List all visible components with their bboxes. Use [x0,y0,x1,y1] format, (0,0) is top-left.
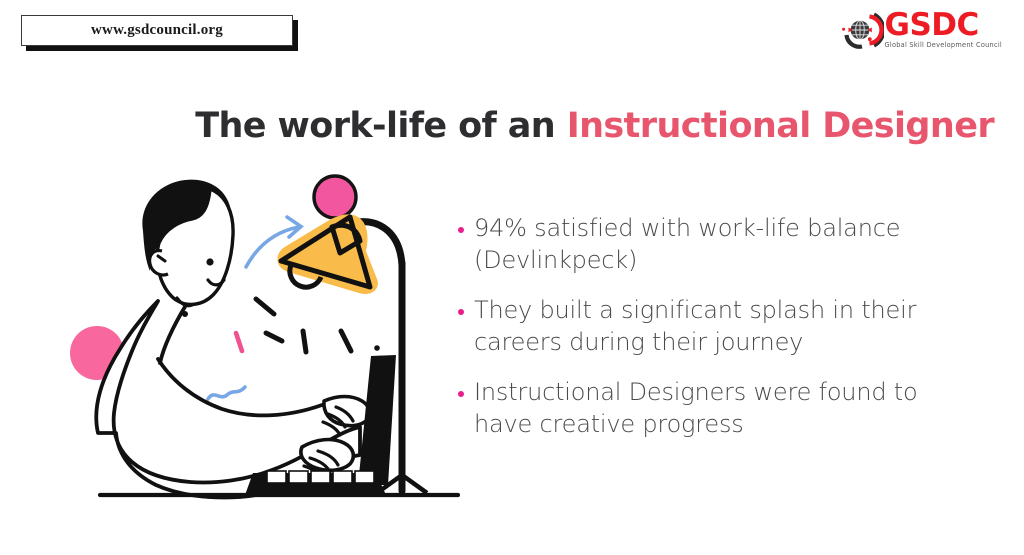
arm-separation-line [158,359,322,415]
bullet-list: 94% satisfied with work-life balance (De… [458,212,978,458]
gsdc-logo-wordmark: GSDC Global Skill Development Council [885,11,1003,49]
upper-hand-shape [323,397,370,436]
list-item-label: They built a significant splash in their… [474,294,978,358]
website-url-badge[interactable]: www.gsdcouncil.org [21,15,293,46]
list-item: Instructional Designers were found to ha… [458,376,978,440]
list-item-label: 94% satisfied with work-life balance (De… [474,212,978,276]
gsdc-logo: GSDC Global Skill Development Council [840,8,1003,52]
website-url-text: www.gsdcouncil.org [91,22,223,39]
woman-working-on-laptop-illustration [40,155,460,520]
list-item: They built a significant splash in their… [458,294,978,358]
blue-squiggle-decoration [208,387,245,399]
eye-dot [206,258,213,265]
slide-title-lead: The work-life of an [195,106,566,146]
slide-canvas: www.gsdcouncil.org [0,0,1024,555]
slide-title: The work-life of an Instructional Design… [0,104,994,148]
laptop-keyboard-keys [267,471,374,483]
gsdc-logo-tagline: Global Skill Development Council [885,41,1003,49]
gsdc-globe-logo-icon [840,8,884,52]
list-item-label: Instructional Designers were found to ha… [474,376,978,440]
list-item: 94% satisfied with work-life balance (De… [458,212,978,276]
desk-lamp-shade [277,214,377,294]
laptop-camera-dot [374,345,380,351]
pink-dash-decoration [236,333,242,351]
slide-title-accent: Instructional Designer [567,106,994,146]
gsdc-logo-title: GSDC [885,11,979,40]
lamp-light-rays [256,299,351,352]
pink-outlined-circle-decoration [314,176,356,218]
far-arm-line [160,305,186,363]
